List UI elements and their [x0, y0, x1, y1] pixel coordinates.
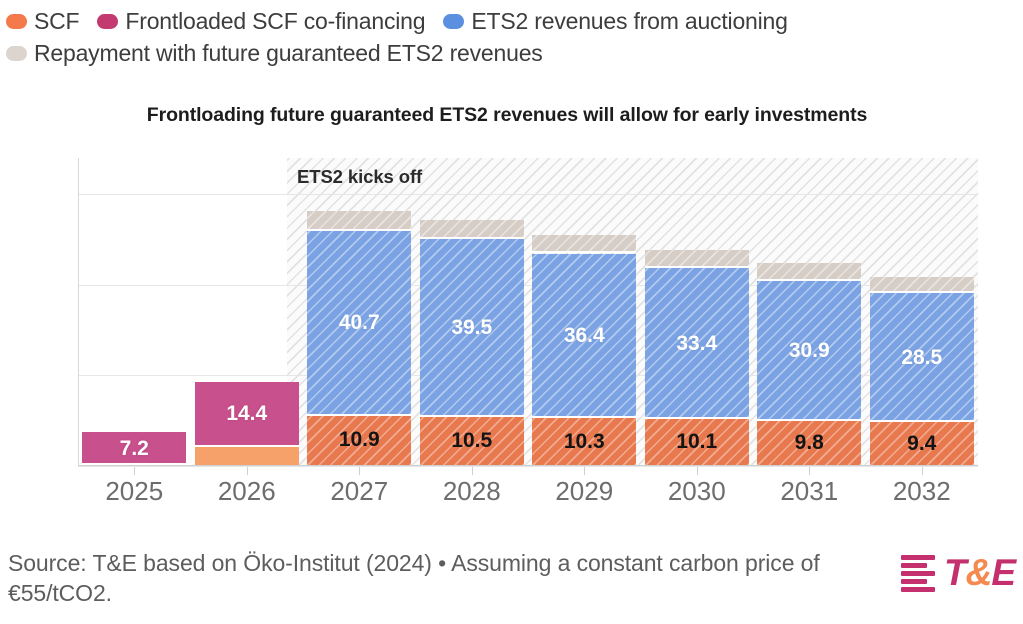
bar-value-label: 9.4: [870, 433, 974, 454]
chart-title: Frontloading future guaranteed ETS2 reve…: [0, 104, 1014, 127]
x-axis-tick-label-2031: 2031: [753, 476, 866, 507]
bar-segment-2027-ets2-revenues-from-auctioning[interactable]: 40.7: [307, 231, 411, 415]
bar-value-label: 10.3: [532, 431, 636, 452]
x-axis-tick-label-2029: 2029: [528, 476, 641, 507]
legend-item-scf: SCF: [6, 6, 79, 36]
bar-segment-2032-repayment-with-future-guaranteed-ets2-revenues[interactable]: [870, 277, 974, 294]
bar-segment-2028-ets2-revenues-from-auctioning[interactable]: 39.5: [420, 239, 524, 418]
x-axis-tick-label-2028: 2028: [416, 476, 529, 507]
x-axis-tick-label-2032: 2032: [866, 476, 979, 507]
x-axis-tick-mark: [247, 467, 248, 475]
bar-group-2030[interactable]: 10.133.4: [645, 250, 749, 465]
legend-label-ets2-auctioning: ETS2 revenues from auctioning: [471, 6, 787, 36]
x-axis-tick-mark: [697, 467, 698, 475]
bar-value-label: 10.1: [645, 431, 749, 452]
legend-swatch-repayment: [6, 46, 27, 61]
bar-value-label: 30.9: [757, 340, 861, 361]
x-axis-tick-mark: [359, 467, 360, 475]
legend-swatch-cofinancing: [97, 14, 118, 29]
gridline: [78, 466, 978, 467]
x-axis-tick-mark: [134, 467, 135, 475]
bar-value-label: 10.9: [307, 429, 411, 450]
bar-value-label: 10.5: [420, 430, 524, 451]
bar-value-label: 28.5: [870, 347, 974, 368]
bar-segment-2031-scf[interactable]: 9.8: [757, 421, 861, 465]
chart-bars: 7.214.410.940.710.539.510.336.410.133.49…: [78, 158, 978, 466]
x-axis-labels: 20252026202720282029203020312032: [78, 476, 978, 512]
bar-group-2025[interactable]: 7.2: [82, 432, 186, 465]
x-axis-tick-label-2025: 2025: [78, 476, 191, 507]
bar-value-label: 7.2: [82, 438, 186, 459]
legend-item-ets2-auctioning: ETS2 revenues from auctioning: [443, 6, 787, 36]
bar-group-2031[interactable]: 9.830.9: [757, 263, 861, 465]
bar-value-label: 39.5: [420, 317, 524, 338]
bar-group-2029[interactable]: 10.336.4: [532, 235, 636, 465]
x-axis-tick-label-2026: 2026: [191, 476, 304, 507]
bar-value-label: 40.7: [307, 312, 411, 333]
bar-group-2027[interactable]: 10.940.7: [307, 211, 411, 465]
bar-segment-2030-ets2-revenues-from-auctioning[interactable]: 33.4: [645, 268, 749, 419]
te-logo: T&E: [901, 552, 1015, 594]
bar-segment-2031-ets2-revenues-from-auctioning[interactable]: 30.9: [757, 281, 861, 421]
bar-segment-2030-scf[interactable]: 10.1: [645, 419, 749, 465]
legend-label-repayment: Repayment with future guaranteed ETS2 re…: [34, 38, 543, 68]
chart-footer: Source: T&E based on Öko-Institut (2024)…: [8, 548, 1015, 618]
bar-value-label: 14.4: [195, 403, 299, 424]
legend-swatch-scf: [6, 14, 27, 29]
te-logo-letter-t: T: [944, 552, 966, 593]
legend-label-scf: SCF: [34, 6, 79, 36]
bar-segment-2026-scf[interactable]: [195, 447, 299, 465]
te-logo-stripes-icon: [901, 555, 935, 592]
bar-segment-2027-scf[interactable]: 10.9: [307, 416, 411, 465]
te-logo-letter-e: E: [991, 552, 1015, 593]
te-logo-ampersand: &: [966, 552, 992, 593]
bar-segment-2029-ets2-revenues-from-auctioning[interactable]: 36.4: [532, 254, 636, 419]
bar-segment-2025-frontloaded-scf-co-financing[interactable]: 7.2: [82, 432, 186, 465]
bar-segment-2029-scf[interactable]: 10.3: [532, 418, 636, 465]
bar-segment-2027-repayment-with-future-guaranteed-ets2-revenues[interactable]: [307, 211, 411, 231]
bar-segment-2030-repayment-with-future-guaranteed-ets2-revenues[interactable]: [645, 250, 749, 268]
bar-group-2026[interactable]: 14.4: [195, 382, 299, 465]
x-axis-tick-mark: [922, 467, 923, 475]
bar-group-2028[interactable]: 10.539.5: [420, 220, 524, 465]
bar-segment-2026-frontloaded-scf-co-financing[interactable]: 14.4: [195, 382, 299, 447]
x-axis-tick-label-2027: 2027: [303, 476, 416, 507]
bar-segment-2028-scf[interactable]: 10.5: [420, 417, 524, 465]
source-note: Source: T&E based on Öko-Institut (2024)…: [8, 548, 853, 608]
bar-segment-2032-scf[interactable]: 9.4: [870, 422, 974, 465]
bar-segment-2029-repayment-with-future-guaranteed-ets2-revenues[interactable]: [532, 235, 636, 254]
bar-segment-2028-repayment-with-future-guaranteed-ets2-revenues[interactable]: [420, 220, 524, 239]
x-axis-tick-mark: [809, 467, 810, 475]
bar-segment-2032-ets2-revenues-from-auctioning[interactable]: 28.5: [870, 293, 974, 422]
legend-item-repayment: Repayment with future guaranteed ETS2 re…: [6, 38, 543, 68]
legend-swatch-ets2-auctioning: [443, 14, 464, 29]
bar-value-label: 9.8: [757, 432, 861, 453]
chart-plot-area: ETS2 kicks off 0204060 7.214.410.940.710…: [78, 158, 978, 466]
bar-value-label: 36.4: [532, 325, 636, 346]
bar-group-2032[interactable]: 9.428.5: [870, 277, 974, 465]
x-axis-tick-mark: [472, 467, 473, 475]
legend-item-cofinancing: Frontloaded SCF co-financing: [97, 6, 425, 36]
te-logo-wordmark: T&E: [944, 552, 1015, 594]
legend-label-cofinancing: Frontloaded SCF co-financing: [125, 6, 425, 36]
x-axis-tick-mark: [584, 467, 585, 475]
chart-legend: SCF Frontloaded SCF co-financing ETS2 re…: [6, 6, 1006, 68]
x-axis-tick-label-2030: 2030: [641, 476, 754, 507]
bar-segment-2031-repayment-with-future-guaranteed-ets2-revenues[interactable]: [757, 263, 861, 280]
bar-value-label: 33.4: [645, 333, 749, 354]
